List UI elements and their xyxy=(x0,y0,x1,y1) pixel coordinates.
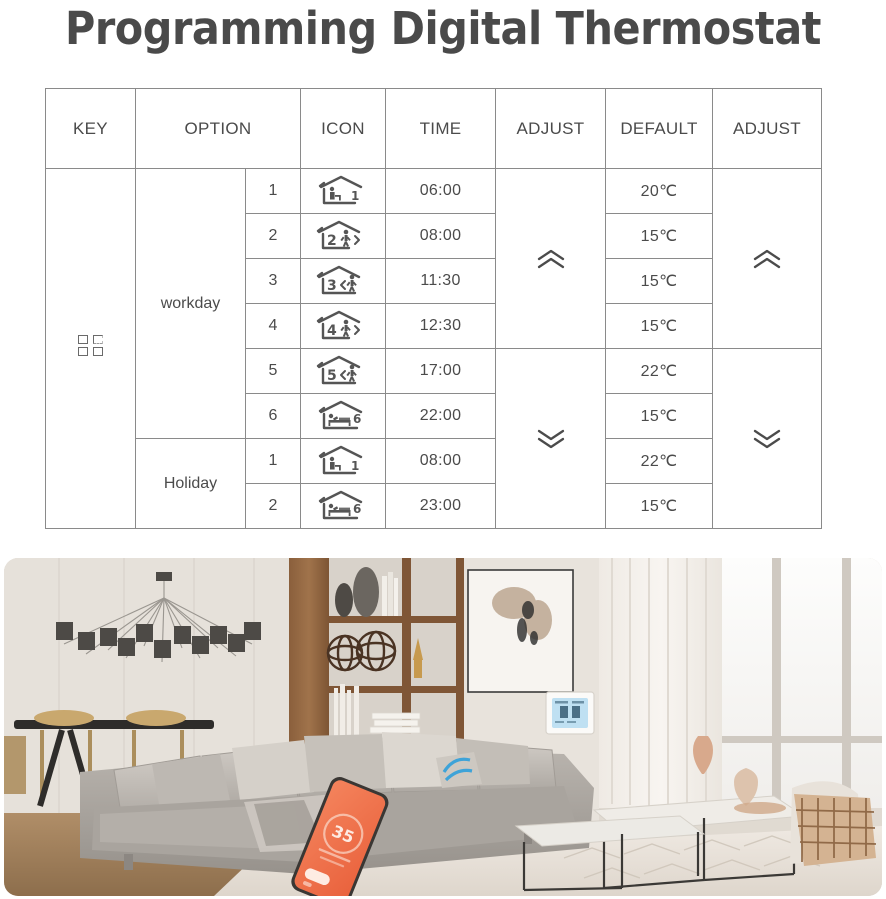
default-temp-cell: 15℃ xyxy=(606,484,713,529)
product-infographic: Programming Digital Thermostat KEY OPTIO… xyxy=(0,0,886,899)
column-header-adjust-1: ADJUST xyxy=(496,89,606,169)
svg-text:6: 6 xyxy=(353,412,361,426)
icon-cell: 2 xyxy=(301,214,386,259)
default-temp-cell: 15℃ xyxy=(606,394,713,439)
double-chevron-up-icon xyxy=(750,248,784,270)
adjust-up-cell-2[interactable] xyxy=(713,169,822,349)
table-row: Holiday 1 xyxy=(46,439,822,484)
column-header-default: DEFAULT xyxy=(606,89,713,169)
house-walk-out-4-icon: 4 xyxy=(315,309,371,343)
time-cell: 22:00 xyxy=(386,394,496,439)
svg-text:1: 1 xyxy=(351,459,359,473)
svg-text:4: 4 xyxy=(327,323,337,339)
house-walk-in-3-icon: 3 xyxy=(315,264,371,298)
table-row: workday 1 xyxy=(46,169,822,214)
slot-number: 4 xyxy=(246,304,301,349)
living-room-scene: 35 xyxy=(4,558,882,896)
icon-cell: 4 xyxy=(301,304,386,349)
slot-number: 1 xyxy=(246,169,301,214)
icon-cell: 3 xyxy=(301,259,386,304)
page-title: Programming Digital Thermostat xyxy=(35,2,850,55)
double-chevron-up-icon xyxy=(534,248,568,270)
house-walk-in-5-icon: 5 xyxy=(315,354,371,388)
option-cell-workday: workday xyxy=(136,169,246,439)
table-header-row: KEY OPTION ICON TIME ADJUST DEFAULT ADJU… xyxy=(46,89,822,169)
slot-number: 3 xyxy=(246,259,301,304)
time-cell: 17:00 xyxy=(386,349,496,394)
column-header-option: OPTION xyxy=(136,89,301,169)
slot-number: 5 xyxy=(246,349,301,394)
house-walk-out-2-icon: 2 xyxy=(315,219,371,253)
icon-cell: 6 xyxy=(301,394,386,439)
column-header-adjust-2: ADJUST xyxy=(713,89,822,169)
default-temp-cell: 15℃ xyxy=(606,259,713,304)
house-bed-6-icon: 6 xyxy=(315,399,371,433)
programming-schedule-table: KEY OPTION ICON TIME ADJUST DEFAULT ADJU… xyxy=(45,88,822,529)
time-cell: 08:00 xyxy=(386,214,496,259)
time-cell: 12:30 xyxy=(386,304,496,349)
adjust-down-cell-1[interactable] xyxy=(496,349,606,529)
default-temp-cell: 22℃ xyxy=(606,439,713,484)
column-header-key: KEY xyxy=(46,89,136,169)
living-room-photo: 35 xyxy=(4,558,882,896)
slot-number: 2 xyxy=(246,214,301,259)
slot-number: 1 xyxy=(246,439,301,484)
option-cell-holiday: Holiday xyxy=(136,439,246,529)
default-temp-cell: 22℃ xyxy=(606,349,713,394)
svg-text:5: 5 xyxy=(327,368,337,384)
default-temp-cell: 15℃ xyxy=(606,214,713,259)
column-header-icon: ICON xyxy=(301,89,386,169)
time-cell: 08:00 xyxy=(386,439,496,484)
time-cell: 23:00 xyxy=(386,484,496,529)
house-desk-1-icon: 1 xyxy=(315,174,371,208)
time-cell: 06:00 xyxy=(386,169,496,214)
double-chevron-down-icon xyxy=(750,428,784,450)
house-desk-1-icon: 1 xyxy=(315,444,371,478)
icon-cell: 1 xyxy=(301,439,386,484)
house-bed-6-icon: 6 xyxy=(315,489,371,523)
adjust-up-cell-1[interactable] xyxy=(496,169,606,349)
default-temp-cell: 20℃ xyxy=(606,169,713,214)
slot-number: 2 xyxy=(246,484,301,529)
time-cell: 11:30 xyxy=(386,259,496,304)
column-header-time: TIME xyxy=(386,89,496,169)
svg-text:6: 6 xyxy=(353,502,361,516)
icon-cell: 5 xyxy=(301,349,386,394)
svg-text:2: 2 xyxy=(327,233,337,249)
double-chevron-down-icon xyxy=(534,428,568,450)
slot-number: 6 xyxy=(246,394,301,439)
default-temp-cell: 15℃ xyxy=(606,304,713,349)
adjust-down-cell-2[interactable] xyxy=(713,349,822,529)
svg-text:1: 1 xyxy=(351,189,359,203)
icon-cell: 6 xyxy=(301,484,386,529)
icon-cell: 1 xyxy=(301,169,386,214)
svg-text:3: 3 xyxy=(327,278,337,294)
key-cell xyxy=(46,169,136,529)
grid-4-squares-icon xyxy=(78,335,104,357)
